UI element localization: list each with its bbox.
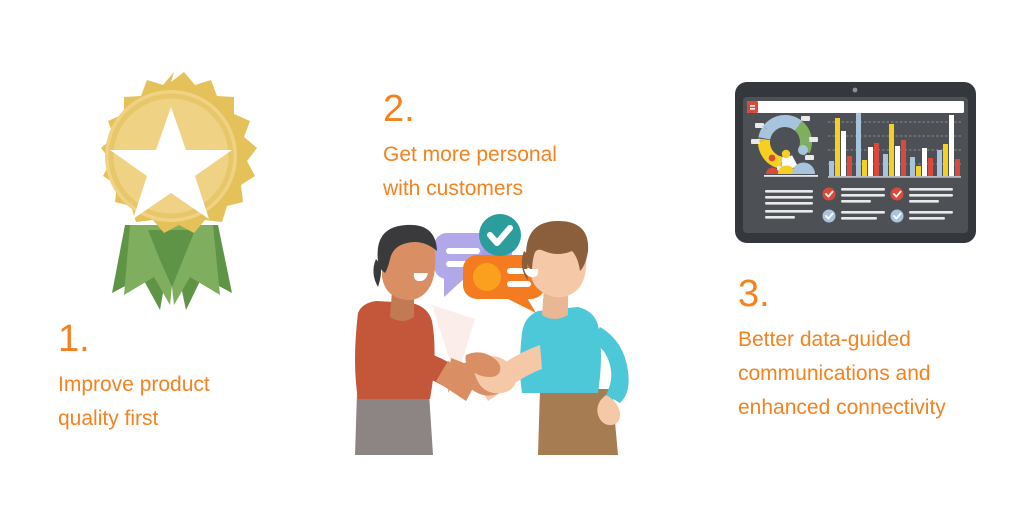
award-ribbon-icon <box>20 55 270 315</box>
step-1-description: Improve product quality first <box>58 368 358 436</box>
step-2-number: 2. <box>383 90 683 128</box>
step-3-text-block: 3. Better data-guided communications and… <box>738 275 1024 425</box>
verified-check-badge <box>479 214 521 256</box>
medal-group <box>101 72 257 233</box>
ribbon-group <box>112 225 232 310</box>
browser-address-bar <box>747 101 964 113</box>
handshake-conversation-icon <box>348 215 658 455</box>
camera-dot <box>853 88 858 93</box>
step-3-description: Better data-guided communications and en… <box>738 323 1024 425</box>
step-3-number: 3. <box>738 275 1024 313</box>
step-1-number: 1. <box>58 320 358 358</box>
dashboard-tablet-icon <box>733 80 978 245</box>
infographic-canvas: 1. Improve product quality first <box>0 0 1024 529</box>
step-1-text-block: 1. Improve product quality first <box>58 320 358 436</box>
step-2-text-block: 2. Get more personal with customers <box>383 90 683 206</box>
step-2-description: Get more personal with customers <box>383 138 683 206</box>
